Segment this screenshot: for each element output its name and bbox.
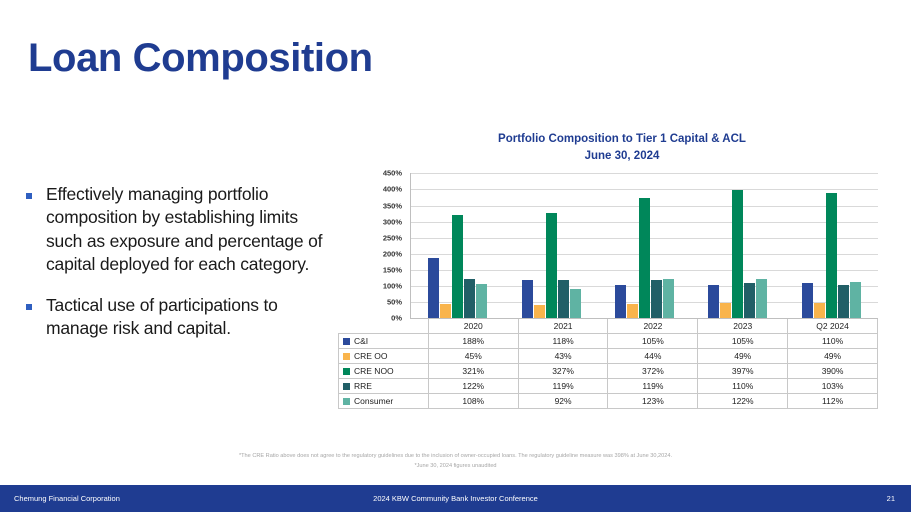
bar-cre-oo <box>534 305 545 319</box>
table-cell: 119% <box>518 379 608 394</box>
bar-rre <box>464 279 475 318</box>
bar-consumer <box>570 289 581 319</box>
table-cell: 44% <box>608 349 698 364</box>
bullet-square-icon <box>26 193 32 199</box>
legend-entry-consumer: Consumer <box>339 394 429 409</box>
bar-c-i <box>615 285 626 319</box>
data-table: 2020202120222023Q2 2024 C&I188%118%105%1… <box>338 318 878 409</box>
table-cell: 43% <box>518 349 608 364</box>
table-cell: 188% <box>428 334 518 349</box>
legend-label: CRE NOO <box>354 366 394 376</box>
legend-label: RRE <box>354 381 372 391</box>
legend-label: C&I <box>354 336 368 346</box>
table-header-row: 2020202120222023Q2 2024 <box>339 319 878 334</box>
y-axis-tick: 300% <box>383 217 402 226</box>
table-cell: 110% <box>788 334 878 349</box>
bar-cre-oo <box>814 303 825 319</box>
table-cell: 105% <box>608 334 698 349</box>
table-cell: 390% <box>788 364 878 379</box>
y-axis-tick: 400% <box>383 185 402 194</box>
table-col-header: 2022 <box>608 319 698 334</box>
table-cell: 49% <box>698 349 788 364</box>
legend-entry-rre: RRE <box>339 379 429 394</box>
table-body: C&I188%118%105%105%110%CRE OO45%43%44%49… <box>339 334 878 409</box>
bar-c-i <box>428 258 439 319</box>
bar-cre-noo <box>826 193 837 319</box>
chart-plot-wrapper: 0%50%100%150%200%250%300%350%400%450% <box>338 173 878 318</box>
legend-entry-cre-noo: CRE NOO <box>339 364 429 379</box>
bar-consumer <box>476 284 487 319</box>
table-cell: 110% <box>698 379 788 394</box>
page-title: Loan Composition <box>28 36 373 80</box>
y-axis-tick: 250% <box>383 233 402 242</box>
bar-group-2021 <box>504 173 597 318</box>
legend-swatch-icon <box>343 383 350 390</box>
table-cell: 112% <box>788 394 878 409</box>
table-cell: 122% <box>428 379 518 394</box>
bar-c-i <box>522 280 533 318</box>
bar-cre-noo <box>732 190 743 318</box>
table-cell: 397% <box>698 364 788 379</box>
table-row: RRE122%119%119%110%103% <box>339 379 878 394</box>
list-item: Tactical use of participations to manage… <box>26 294 331 341</box>
bar-rre <box>651 280 662 318</box>
bar-cre-noo <box>452 215 463 318</box>
y-axis-tick: 0% <box>391 314 402 323</box>
table-row: CRE OO45%43%44%49%49% <box>339 349 878 364</box>
legend-entry-cre-oo: CRE OO <box>339 349 429 364</box>
y-axis-tick: 50% <box>387 298 402 307</box>
bar-consumer <box>663 279 674 319</box>
table-cell: 321% <box>428 364 518 379</box>
bar-cre-noo <box>546 213 557 318</box>
table-cell: 92% <box>518 394 608 409</box>
bar-rre <box>838 285 849 318</box>
bar-rre <box>744 283 755 318</box>
table-cell: 119% <box>608 379 698 394</box>
bar-cre-noo <box>639 198 650 318</box>
bar-cre-oo <box>627 304 638 318</box>
legend-swatch-icon <box>343 338 350 345</box>
y-axis-tick: 350% <box>383 201 402 210</box>
table-cell: 108% <box>428 394 518 409</box>
footnote-1: *The CRE Ratio above does not agree to t… <box>0 452 911 462</box>
y-axis-tick: 100% <box>383 282 402 291</box>
bar-consumer <box>850 282 861 318</box>
bar-cre-oo <box>720 303 731 319</box>
bullet-text: Effectively managing portfolio compositi… <box>46 183 331 276</box>
legend-entry-c-i: C&I <box>339 334 429 349</box>
footer-conference-name: 2024 KBW Community Bank Investor Confere… <box>0 494 911 503</box>
chart-subtitle: June 30, 2024 <box>366 148 878 165</box>
legend-swatch-icon <box>343 368 350 375</box>
table-col-header: 2021 <box>518 319 608 334</box>
legend-label: Consumer <box>354 396 393 406</box>
bars-layer <box>411 173 878 318</box>
table-cell: 122% <box>698 394 788 409</box>
table-cell: 118% <box>518 334 608 349</box>
plot-area <box>410 173 878 319</box>
table-cell: 105% <box>698 334 788 349</box>
table-col-header: Q2 2024 <box>788 319 878 334</box>
bar-group-2022 <box>598 173 691 318</box>
page-number: 21 <box>887 494 895 503</box>
bar-group-2020 <box>411 173 504 318</box>
bar-c-i <box>708 285 719 319</box>
footnote-2: *June 30, 2024 figures unaudited <box>0 462 911 472</box>
table-col-header: 2020 <box>428 319 518 334</box>
footer-bar: Chemung Financial Corporation 2024 KBW C… <box>0 485 911 512</box>
footnotes: *The CRE Ratio above does not agree to t… <box>0 452 911 472</box>
list-item: Effectively managing portfolio compositi… <box>26 183 331 276</box>
bar-consumer <box>756 279 767 318</box>
legend-swatch-icon <box>343 353 350 360</box>
y-axis: 0%50%100%150%200%250%300%350%400%450% <box>338 173 406 318</box>
table-cell: 49% <box>788 349 878 364</box>
table-cell: 327% <box>518 364 608 379</box>
y-axis-tick: 450% <box>383 169 402 178</box>
bar-c-i <box>802 283 813 318</box>
table-cell: 372% <box>608 364 698 379</box>
bullet-list: Effectively managing portfolio compositi… <box>26 183 331 359</box>
chart-title: Portfolio Composition to Tier 1 Capital … <box>366 131 878 164</box>
bar-rre <box>558 280 569 318</box>
bar-cre-oo <box>440 304 451 319</box>
table-corner-cell <box>339 319 429 334</box>
table-row: CRE NOO321%327%372%397%390% <box>339 364 878 379</box>
table-cell: 123% <box>608 394 698 409</box>
table-row: Consumer108%92%123%122%112% <box>339 394 878 409</box>
bullet-text: Tactical use of participations to manage… <box>46 294 331 341</box>
bar-group-2023 <box>691 173 784 318</box>
y-axis-tick: 200% <box>383 249 402 258</box>
bullet-square-icon <box>26 304 32 310</box>
chart-title-line1: Portfolio Composition to Tier 1 Capital … <box>366 131 878 148</box>
legend-swatch-icon <box>343 398 350 405</box>
table-row: C&I188%118%105%105%110% <box>339 334 878 349</box>
chart-panel: Portfolio Composition to Tier 1 Capital … <box>338 131 878 409</box>
table-cell: 45% <box>428 349 518 364</box>
table-cell: 103% <box>788 379 878 394</box>
legend-label: CRE OO <box>354 351 388 361</box>
bar-group-q2-2024 <box>785 173 878 318</box>
table-col-header: 2023 <box>698 319 788 334</box>
y-axis-tick: 150% <box>383 266 402 275</box>
